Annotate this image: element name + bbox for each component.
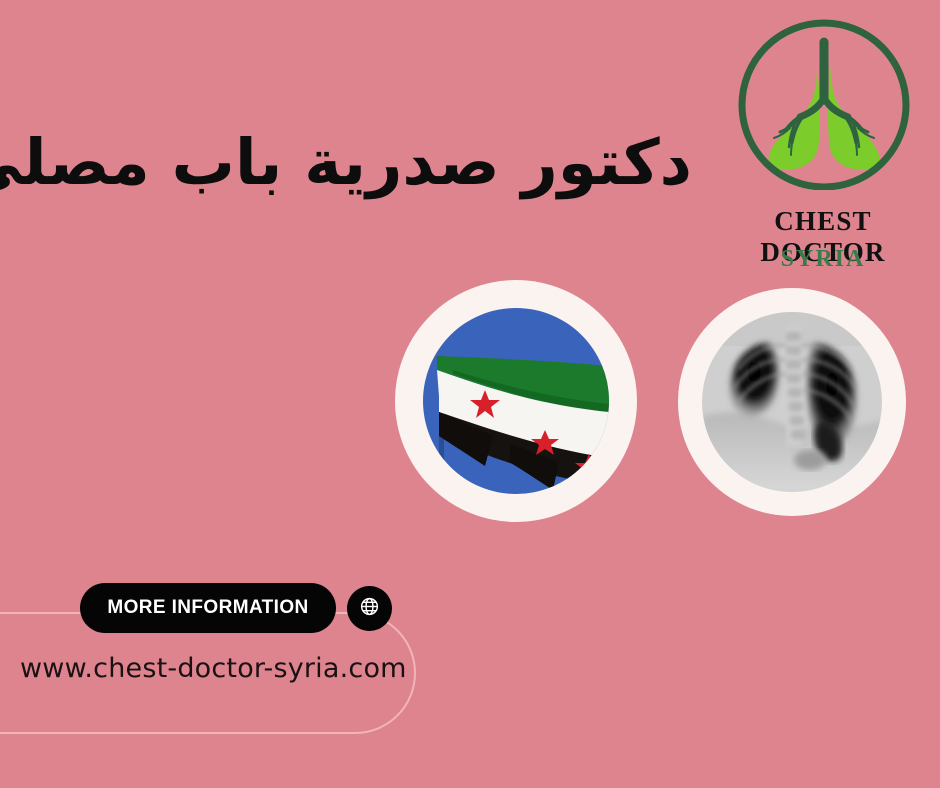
globe-icon-button[interactable] [347,586,392,631]
chest-xray-photo [678,288,906,516]
page-title: دكتور صدرية باب مصلى [22,129,692,197]
globe-icon [358,595,381,623]
syrian-flag-image [423,308,609,494]
website-url[interactable]: www.chest-doctor-syria.com [20,653,407,684]
poster-canvas: دكتور صدرية باب مصلى [0,0,940,788]
logo-subtitle: SYRIA [713,246,933,273]
chest-xray-image [702,312,882,492]
brand-logo: CHEST DOCTOR SYRIA [713,18,933,268]
syrian-flag-photo [395,280,637,522]
more-information-button[interactable]: MORE INFORMATION [80,583,336,633]
more-information-label: MORE INFORMATION [107,597,308,619]
lungs-icon [738,18,910,190]
